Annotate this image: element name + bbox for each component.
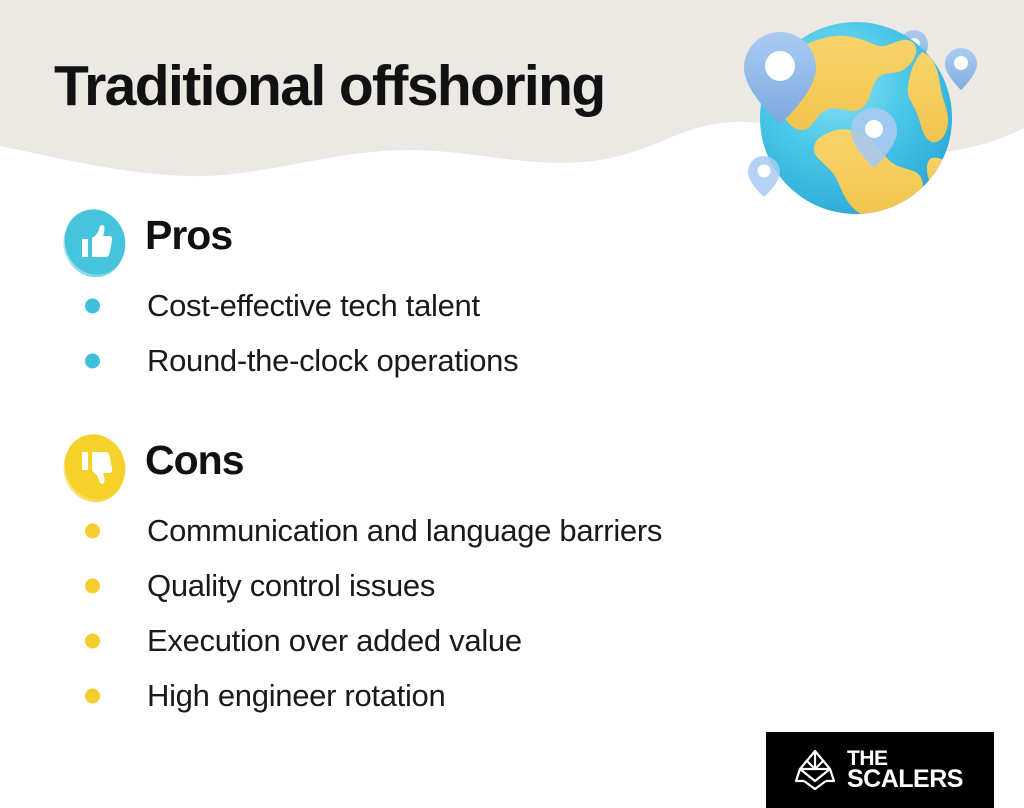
brand-wordmark: THE SCALERS [847,749,963,792]
slide-canvas: Traditional offshoring [0,0,1024,808]
globe-illustration [726,8,986,223]
bullet-dot-icon [85,688,100,703]
brand-logo: THE SCALERS [766,732,994,808]
section-cons-title: Cons [145,436,244,485]
bullet-dot-icon [85,523,100,538]
thumbs-up-icon [58,205,132,279]
cons-list: Communication and language barriers Qual… [0,503,1024,723]
list-item-label: Cost-effective tech talent [147,288,480,324]
section-cons-header: Cons [0,425,1024,503]
section-cons: Cons Communication and language barriers… [0,425,1024,723]
list-item: Round-the-clock operations [0,333,1024,388]
list-item: Cost-effective tech talent [0,278,1024,333]
thumbs-down-icon [58,430,132,504]
bullet-dot-icon [85,578,100,593]
list-item: Quality control issues [0,558,1024,613]
section-pros: Pros Cost-effective tech talent Round-th… [0,200,1024,388]
brand-line-scalers: SCALERS [847,768,963,791]
pros-list: Cost-effective tech talent Round-the-clo… [0,278,1024,388]
page-title: Traditional offshoring [54,57,605,117]
bullet-dot-icon [85,633,100,648]
bullet-dot-icon [85,353,100,368]
list-item-label: Execution over added value [147,623,522,659]
list-item: Execution over added value [0,613,1024,668]
section-pros-title: Pros [145,211,232,260]
diamond-gem-icon [792,748,838,792]
location-pin-icon [748,156,780,197]
list-item-label: Quality control issues [147,568,435,604]
location-pin-icon [945,48,977,90]
list-item-label: Communication and language barriers [147,513,662,549]
list-item-label: High engineer rotation [147,678,445,714]
list-item-label: Round-the-clock operations [147,343,518,379]
bullet-dot-icon [85,298,100,313]
section-pros-header: Pros [0,200,1024,278]
list-item: High engineer rotation [0,668,1024,723]
list-item: Communication and language barriers [0,503,1024,558]
